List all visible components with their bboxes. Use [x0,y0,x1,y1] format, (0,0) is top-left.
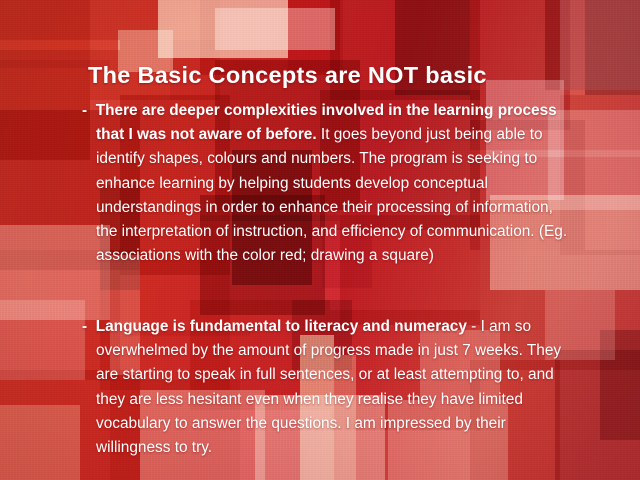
presentation-slide: The Basic Concepts are NOT basic - There… [0,0,640,480]
slide-title: The Basic Concepts are NOT basic [88,62,588,89]
bullet-body-text: - I am so overwhelmed by the amount of p… [96,318,561,456]
bullet-body-text: It goes beyond just being able to identi… [96,126,567,264]
bullet-lead-text: Language is fundamental to literacy and … [96,318,467,335]
bullet-marker: - [82,318,87,335]
bullet-item-2: - Language is fundamental to literacy an… [82,315,574,460]
bullet-marker: - [82,102,87,119]
bullet-item-1: - There are deeper complexities involved… [82,99,574,268]
slide-content: The Basic Concepts are NOT basic - There… [0,0,640,480]
